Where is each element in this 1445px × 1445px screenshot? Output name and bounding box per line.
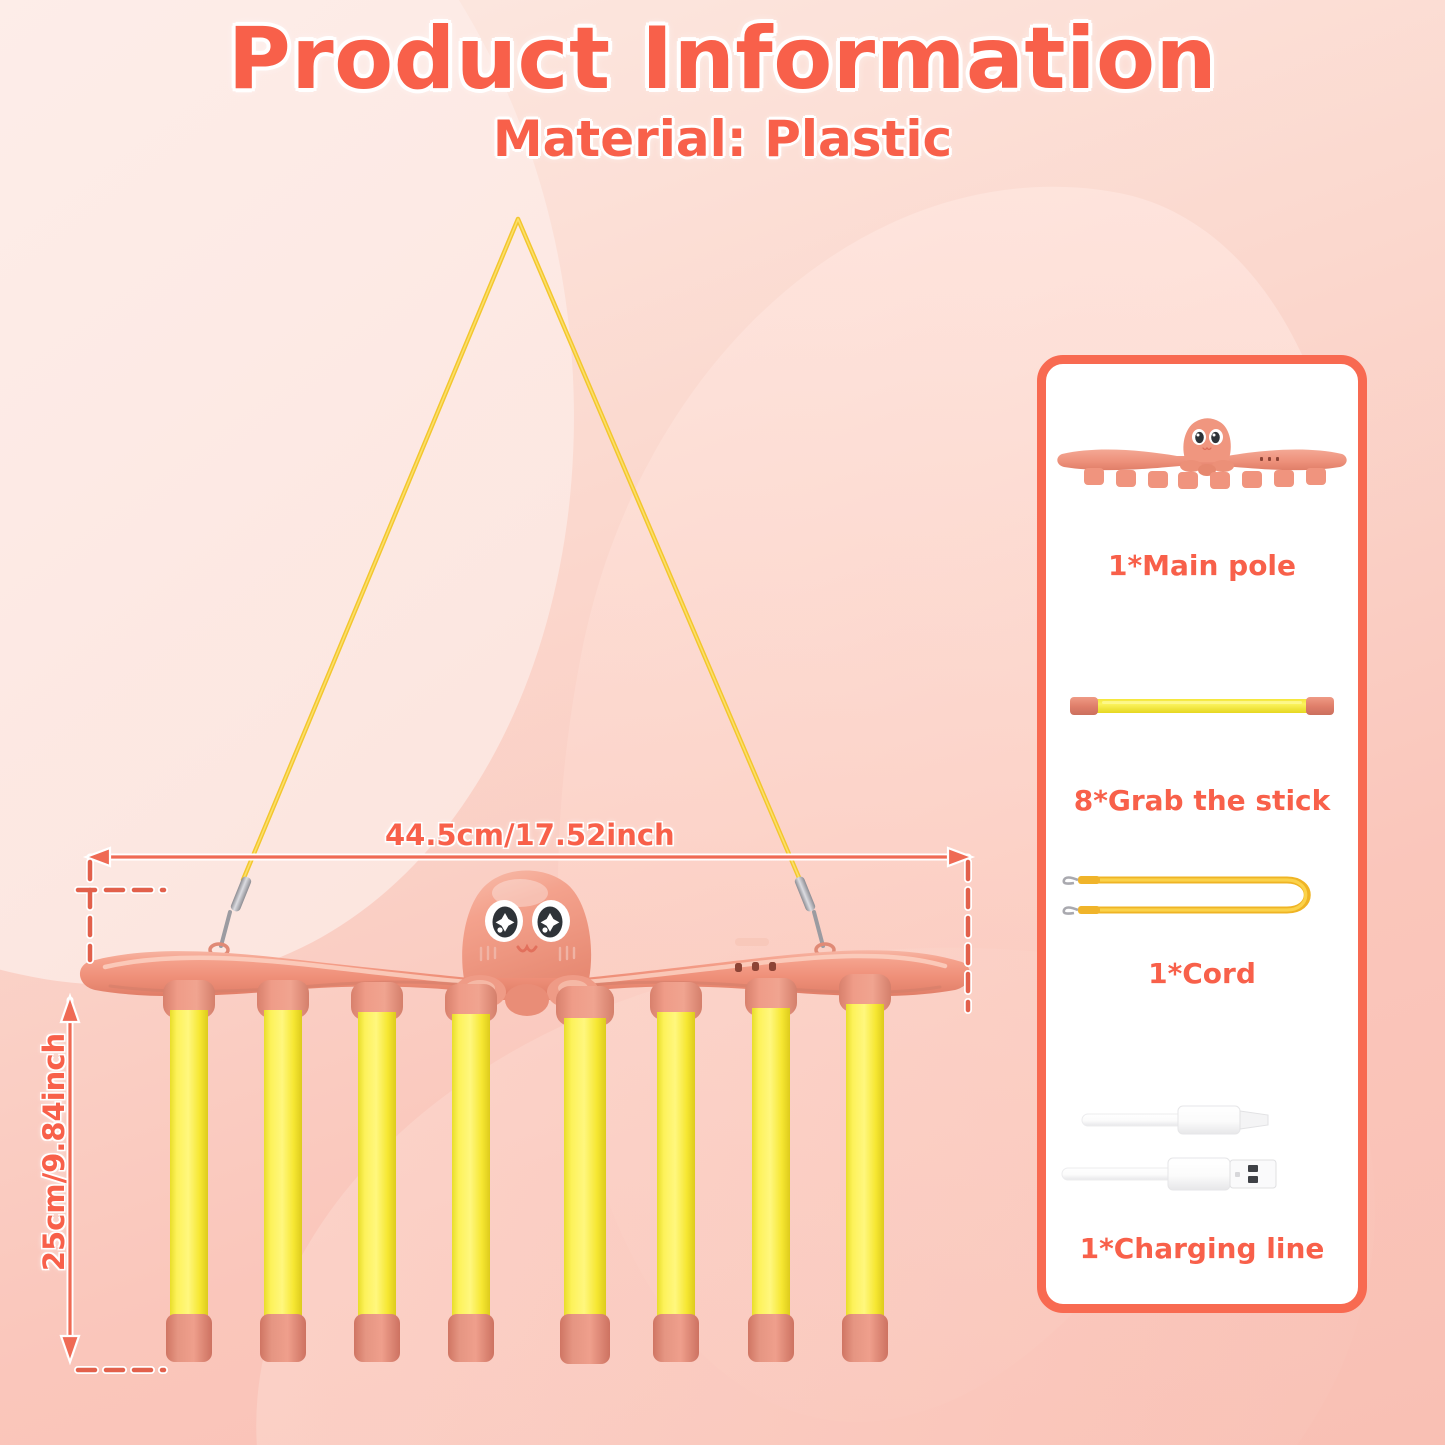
part-label-grab-stick: 8*Grab the stick [1046,784,1358,817]
part-label-cord: 1*Cord [1046,957,1358,990]
grab-stick [257,980,309,1362]
yellow-stick-icon [1046,689,1358,723]
part-label-main-pole: 1*Main pole [1046,549,1358,582]
grab-stick [650,982,702,1362]
grab-sticks-group [163,974,891,1364]
width-dimension-label: 44.5cm/17.52inch [385,818,675,852]
grab-stick [556,986,614,1364]
hanging-cord-icon [243,219,800,880]
grab-stick [163,980,215,1362]
cord-clip-right-icon [794,875,834,956]
height-dimension-label: 25cm/9.84inch [37,1022,71,1282]
grab-stick [445,984,497,1362]
grab-stick [839,974,891,1362]
usb-cable-icon [1046,1086,1358,1216]
parts-list-card: 1*Main pole 8*Grab the stick [1037,355,1367,1313]
cord-clip-left-icon [210,875,252,956]
grab-stick [745,978,797,1362]
product-information-page: Product Information Material: Plastic [0,0,1445,1445]
yellow-cord-icon [1046,860,1358,930]
grab-stick [351,982,403,1362]
octopus-pole-icon [1046,410,1358,500]
part-label-charging-line: 1*Charging line [1046,1232,1358,1265]
